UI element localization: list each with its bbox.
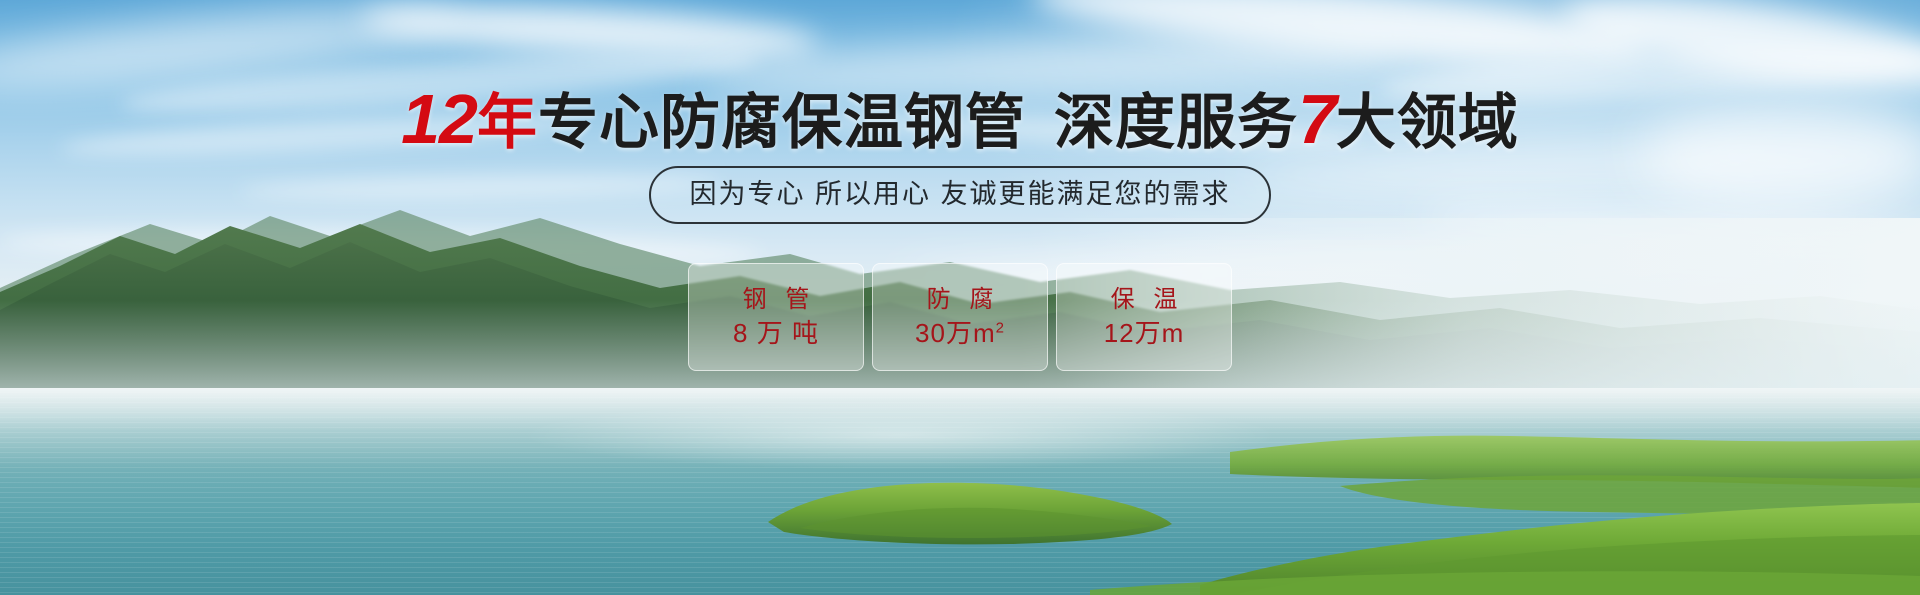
headline-fields-text: 大领域 xyxy=(1336,89,1519,156)
subtitle-container: 因为专心 所以用心 友诚更能满足您的需求 xyxy=(0,166,1920,224)
grass-island xyxy=(760,470,1180,548)
water-sun-glint xyxy=(520,400,1280,470)
stat-card-steel-pipe[interactable]: 钢 管 8 万 吨 xyxy=(688,263,864,371)
stat-card-value: 30万m2 xyxy=(915,319,1005,347)
hero-banner: 12年专心防腐保温钢管深度服务7大领域 因为专心 所以用心 友诚更能满足您的需求… xyxy=(0,0,1920,595)
headline-service-text: 深度服务 xyxy=(1054,89,1298,156)
headline: 12年专心防腐保温钢管深度服务7大领域 xyxy=(0,88,1920,154)
stat-card-value: 8 万 吨 xyxy=(733,319,819,347)
headline-years-number: 12 xyxy=(401,80,477,158)
stat-card-value-superscript: 2 xyxy=(996,319,1005,336)
stat-cards-group: 钢 管 8 万 吨 防 腐 30万m2 保 温 12万m xyxy=(0,263,1920,371)
grass-shoreline-strip xyxy=(1090,560,1920,595)
stat-card-value-text: 30万m xyxy=(915,318,996,348)
stat-card-label: 保 温 xyxy=(1105,287,1184,313)
stat-card-label: 钢 管 xyxy=(737,287,816,313)
headline-years-unit: 年 xyxy=(477,89,538,156)
stat-card-value-text: 8 万 吨 xyxy=(733,318,819,348)
headline-fields-number: 7 xyxy=(1298,80,1336,158)
stat-card-value: 12万m xyxy=(1104,319,1185,347)
stat-card-anticorrosion[interactable]: 防 腐 30万m2 xyxy=(872,263,1048,371)
headline-main-text: 专心防腐保温钢管 xyxy=(538,89,1026,156)
stat-card-insulation[interactable]: 保 温 12万m xyxy=(1056,263,1232,371)
stat-card-value-text: 12万m xyxy=(1104,318,1185,348)
stat-card-label: 防 腐 xyxy=(921,287,1000,313)
subtitle-pill: 因为专心 所以用心 友诚更能满足您的需求 xyxy=(649,166,1270,224)
